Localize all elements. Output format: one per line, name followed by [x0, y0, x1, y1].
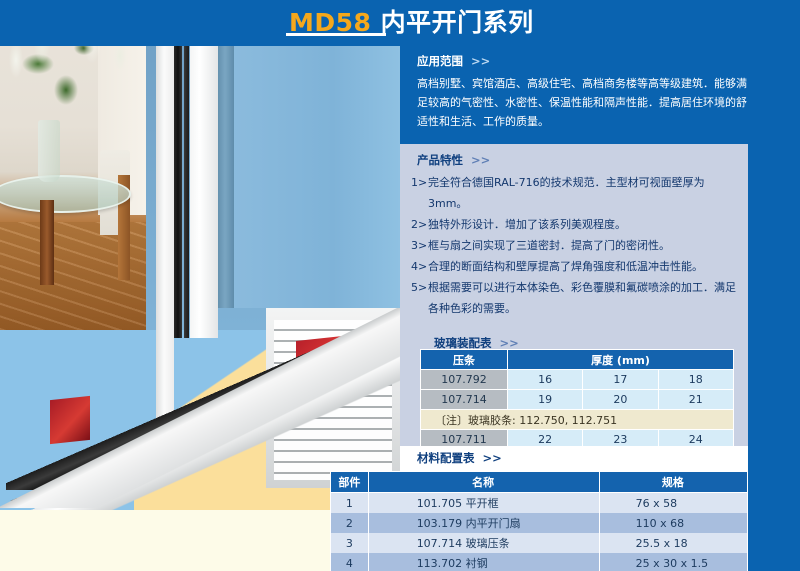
material-heading-label: 材料配置表: [417, 451, 475, 465]
chevron-right-icon: >>: [471, 54, 490, 68]
features-heading-label: 产品特性: [417, 153, 463, 167]
interior-room-photo: [0, 0, 146, 330]
usage-section-heading: 应用范围 >>: [417, 53, 490, 69]
table-row: 2 103.179 内平开门扇 110 x 68: [331, 513, 748, 533]
feature-text: 框与扇之间实现了三道密封．提高了门的密闭性。: [428, 235, 670, 256]
table-row: 3 107.714 玻璃压条 25.5 x 18: [331, 533, 748, 553]
chevron-right-icon: >>: [483, 451, 502, 465]
photo-table-leg: [40, 200, 54, 285]
glass-value: 17: [583, 370, 658, 390]
usage-heading-label: 应用范围: [417, 54, 463, 68]
features-section-heading: 产品特性 >>: [417, 152, 490, 168]
feature-item: 5> 根据需要可以进行本体染色、彩色覆膜和氟碳喷涂的加工．满足各种色彩的需要。: [411, 277, 741, 319]
glass-note: 〔注〕玻璃胶条: 112.750, 112.751: [421, 410, 734, 430]
feature-number: 1>: [411, 172, 428, 214]
feature-text: 完全符合德国RAL-716的技术规范．主型材可视面壁厚为3mm。: [428, 172, 741, 214]
features-list: 1> 完全符合德国RAL-716的技术规范．主型材可视面壁厚为3mm。 2> 独…: [411, 172, 741, 319]
chevron-right-icon: >>: [471, 153, 490, 167]
glass-heading-label: 玻璃装配表: [434, 336, 492, 350]
feature-text: 合理的断面结构和壁厚提高了焊角强度和低温冲击性能。: [428, 256, 703, 277]
glass-value: 16: [508, 370, 583, 390]
feature-item: 2> 独特外形设计．增加了该系列美观程度。: [411, 214, 741, 235]
feature-item: 4> 合理的断面结构和壁厚提高了焊角强度和低温冲击性能。: [411, 256, 741, 277]
table-row: 1 101.705 平开框 76 x 58: [331, 493, 748, 514]
mat-col-spec: 规格: [599, 472, 747, 493]
glass-value: 18: [658, 370, 733, 390]
profile-steel-reinforcement-b: [50, 396, 90, 444]
mat-name: 103.179 内平开门扇: [368, 513, 599, 533]
product-brochure-page: MD58 内平开门系列 应用范围 >> 高档别墅、宾馆酒店、高级住宅、高档商务楼…: [0, 0, 800, 571]
mat-part: 4: [331, 553, 369, 571]
mat-col-name: 名称: [368, 472, 599, 493]
table-note-row: 〔注〕玻璃胶条: 112.750, 112.751: [421, 410, 734, 430]
mat-name: 101.705 平开框: [368, 493, 599, 514]
profile-seal-outer: [174, 8, 182, 338]
mat-spec: 25.5 x 18: [599, 533, 747, 553]
profile-sash: [190, 8, 218, 338]
glass-col-strip: 压条: [421, 350, 508, 370]
feature-number: 4>: [411, 256, 428, 277]
mat-part: 2: [331, 513, 369, 533]
glass-code: 107.714: [421, 390, 508, 410]
glass-value: 20: [583, 390, 658, 410]
feature-text: 根据需要可以进行本体染色、彩色覆膜和氟碳喷涂的加工．满足各种色彩的需要。: [428, 277, 741, 319]
features-section: 产品特性 >> 1> 完全符合德国RAL-716的技术规范．主型材可视面壁厚为3…: [400, 144, 748, 485]
glass-value: 21: [658, 390, 733, 410]
feature-item: 3> 框与扇之间实现了三道密封．提高了门的密闭性。: [411, 235, 741, 256]
title-underline: [286, 33, 386, 36]
door-profile-render: [146, 8, 400, 478]
table-header-row: 部件 名称 规格: [331, 472, 748, 493]
glass-code: 107.792: [421, 370, 508, 390]
mat-spec: 110 x 68: [599, 513, 747, 533]
table-row: 4 113.702 衬钢 25 x 30 x 1.5: [331, 553, 748, 571]
material-table-heading: 材料配置表 >>: [417, 450, 502, 466]
mat-spec: 25 x 30 x 1.5: [599, 553, 747, 571]
material-configuration-table: 部件 名称 规格 1 101.705 平开框 76 x 58 2 103.179…: [330, 471, 748, 571]
table-row: 107.792 16 17 18: [421, 370, 734, 390]
mat-name: 113.702 衬钢: [368, 553, 599, 571]
feature-number: 2>: [411, 214, 428, 235]
usage-body-text: 高档别墅、宾馆酒店、高级住宅、高档商务楼等高等级建筑．能够满足较高的气密性、水密…: [417, 74, 747, 131]
chevron-right-icon: >>: [500, 336, 519, 350]
content-column: 应用范围 >> 高档别墅、宾馆酒店、高级住宅、高档商务楼等高等级建筑．能够满足较…: [400, 46, 800, 571]
feature-item: 1> 完全符合德国RAL-716的技术规范．主型材可视面壁厚为3mm。: [411, 172, 741, 214]
mat-spec: 76 x 58: [599, 493, 747, 514]
feature-number: 5>: [411, 277, 428, 319]
profile-glass-edge: [216, 8, 234, 308]
glass-value: 19: [508, 390, 583, 410]
profile-glass-pane: [232, 8, 400, 308]
profile-seal-inner: [184, 8, 189, 338]
feature-text: 独特外形设计．增加了该系列美观程度。: [428, 214, 626, 235]
table-row: 107.714 19 20 21: [421, 390, 734, 410]
mat-part: 3: [331, 533, 369, 553]
page-title-name: 内平开门系列: [381, 8, 534, 37]
mat-name: 107.714 玻璃压条: [368, 533, 599, 553]
mat-col-part: 部件: [331, 472, 369, 493]
mat-part: 1: [331, 493, 369, 514]
glass-col-thickness: 厚度 (mm): [508, 350, 734, 370]
feature-number: 3>: [411, 235, 428, 256]
table-header-row: 压条 厚度 (mm): [421, 350, 734, 370]
usage-section: 应用范围 >> 高档别墅、宾馆酒店、高级住宅、高档商务楼等高等级建筑．能够满足较…: [400, 46, 800, 144]
